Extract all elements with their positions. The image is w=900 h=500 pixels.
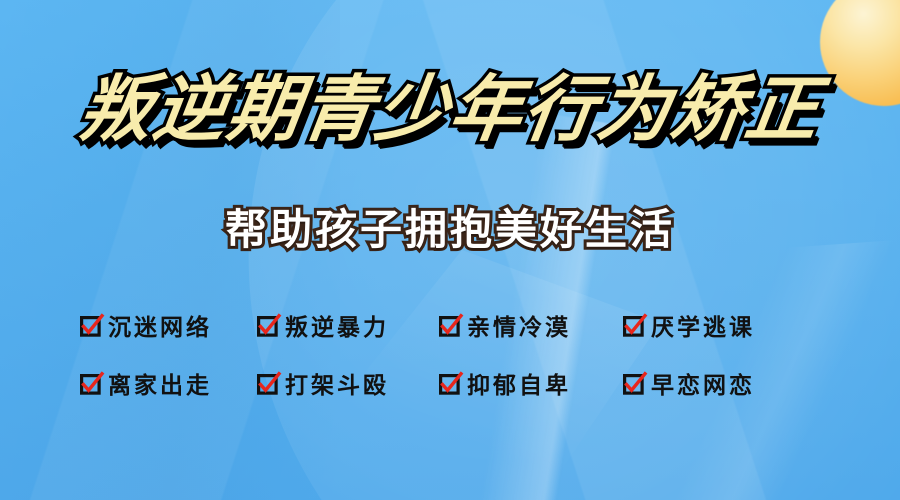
title-container: 叛逆期青少年行为矫正	[0, 72, 900, 148]
checkbox-checked-icon[interactable]	[257, 315, 278, 336]
checklist-item-label: 早恋网恋	[651, 366, 755, 400]
checkbox-checked-icon[interactable]	[80, 315, 101, 336]
checklist-item[interactable]: 叛逆暴力	[257, 308, 439, 342]
checklist-row: 离家出走 打架斗殴 抑郁自卑	[80, 354, 820, 412]
checklist-item-label: 叛逆暴力	[285, 308, 389, 342]
checkbox-checked-icon[interactable]	[439, 373, 460, 394]
checklist-item-label: 亲情冷漠	[467, 308, 571, 342]
checklist-item[interactable]: 沉迷网络	[80, 308, 257, 342]
checklist-item[interactable]: 打架斗殴	[257, 366, 439, 400]
checklist-item-label: 沉迷网络	[108, 308, 212, 342]
checklist-item-label: 离家出走	[108, 366, 212, 400]
poster-banner: 叛逆期青少年行为矫正 帮助孩子拥抱美好生活 沉迷网络	[0, 0, 900, 500]
checklist-item[interactable]: 离家出走	[80, 366, 257, 400]
checklist-row: 沉迷网络 叛逆暴力 亲情冷漠	[80, 296, 820, 354]
checkbox-checked-icon[interactable]	[623, 315, 644, 336]
page-subtitle: 帮助孩子拥抱美好生活	[225, 196, 675, 257]
checklist-item[interactable]: 早恋网恋	[623, 366, 803, 400]
checkbox-checked-icon[interactable]	[80, 373, 101, 394]
checklist: 沉迷网络 叛逆暴力 亲情冷漠	[80, 296, 820, 412]
checkbox-checked-icon[interactable]	[623, 373, 644, 394]
checklist-item[interactable]: 抑郁自卑	[439, 366, 623, 400]
checklist-item[interactable]: 厌学逃课	[623, 308, 803, 342]
checkbox-checked-icon[interactable]	[439, 315, 460, 336]
page-title: 叛逆期青少年行为矫正	[75, 72, 826, 148]
checklist-item-label: 打架斗殴	[285, 366, 389, 400]
checklist-item[interactable]: 亲情冷漠	[439, 308, 623, 342]
checkbox-checked-icon[interactable]	[257, 373, 278, 394]
checklist-item-label: 抑郁自卑	[467, 366, 571, 400]
subtitle-container: 帮助孩子拥抱美好生活	[0, 196, 900, 257]
checklist-item-label: 厌学逃课	[651, 308, 755, 342]
